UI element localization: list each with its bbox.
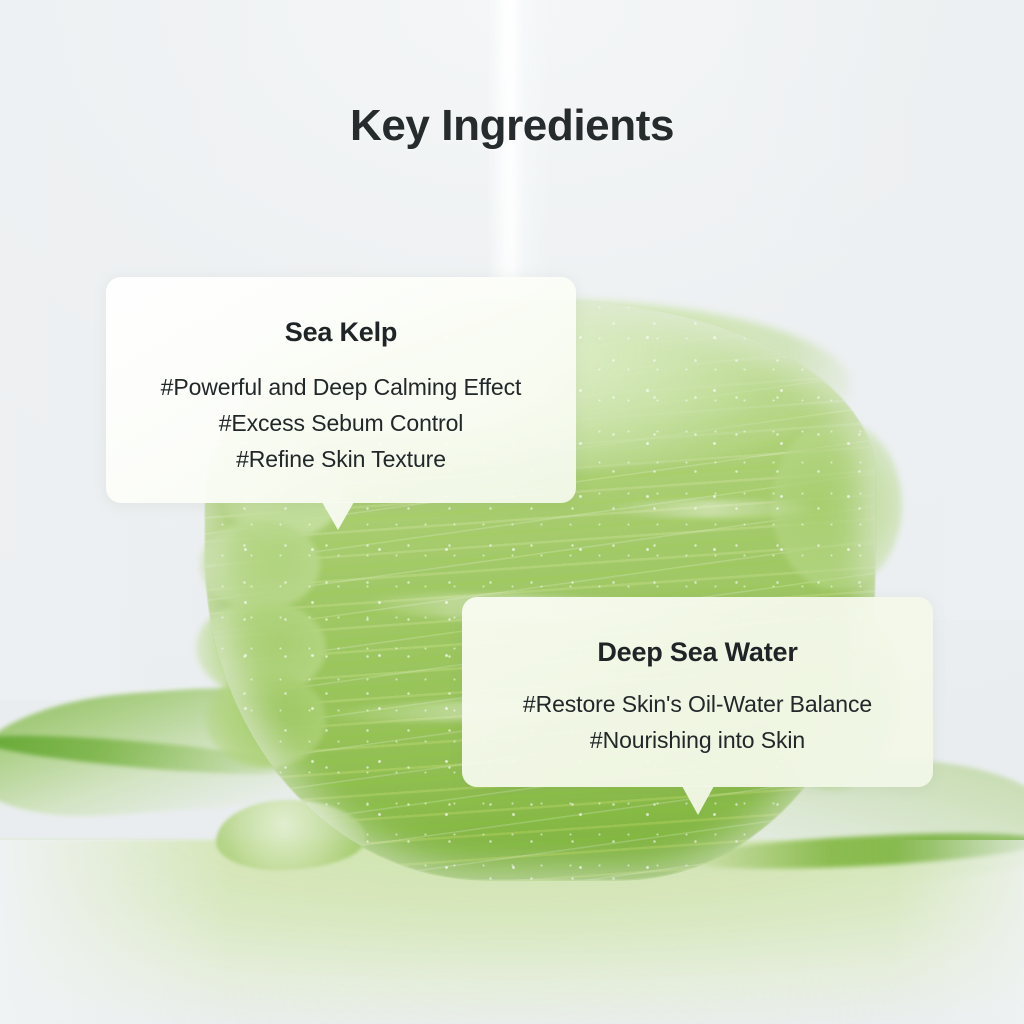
card-tail-sea-kelp: [322, 502, 354, 530]
card-heading-deep-sea-water: Deep Sea Water: [462, 637, 933, 668]
pool-right-fade: [894, 840, 1024, 1024]
card-line: #Excess Sebum Control: [106, 405, 576, 441]
pool-left-fade: [0, 840, 230, 1024]
ingredient-card-sea-kelp: Sea Kelp #Powerful and Deep Calming Effe…: [106, 277, 576, 503]
card-line: #Nourishing into Skin: [462, 722, 933, 758]
card-line: #Powerful and Deep Calming Effect: [106, 369, 576, 405]
ingredient-card-deep-sea-water: Deep Sea Water #Restore Skin's Oil-Water…: [462, 597, 933, 787]
card-body-deep-sea-water: #Restore Skin's Oil-Water Balance #Nouri…: [462, 686, 933, 758]
card-line: #Restore Skin's Oil-Water Balance: [462, 686, 933, 722]
card-tail-deep-sea-water: [682, 786, 714, 815]
page-title: Key Ingredients: [0, 101, 1024, 151]
gel-texture-photo: [0, 0, 1024, 1024]
product-ingredient-graphic: Key Ingredients Sea Kelp #Powerful and D…: [0, 0, 1024, 1024]
card-heading-sea-kelp: Sea Kelp: [106, 317, 576, 348]
card-line: #Refine Skin Texture: [106, 441, 576, 477]
card-body-sea-kelp: #Powerful and Deep Calming Effect #Exces…: [106, 369, 576, 477]
